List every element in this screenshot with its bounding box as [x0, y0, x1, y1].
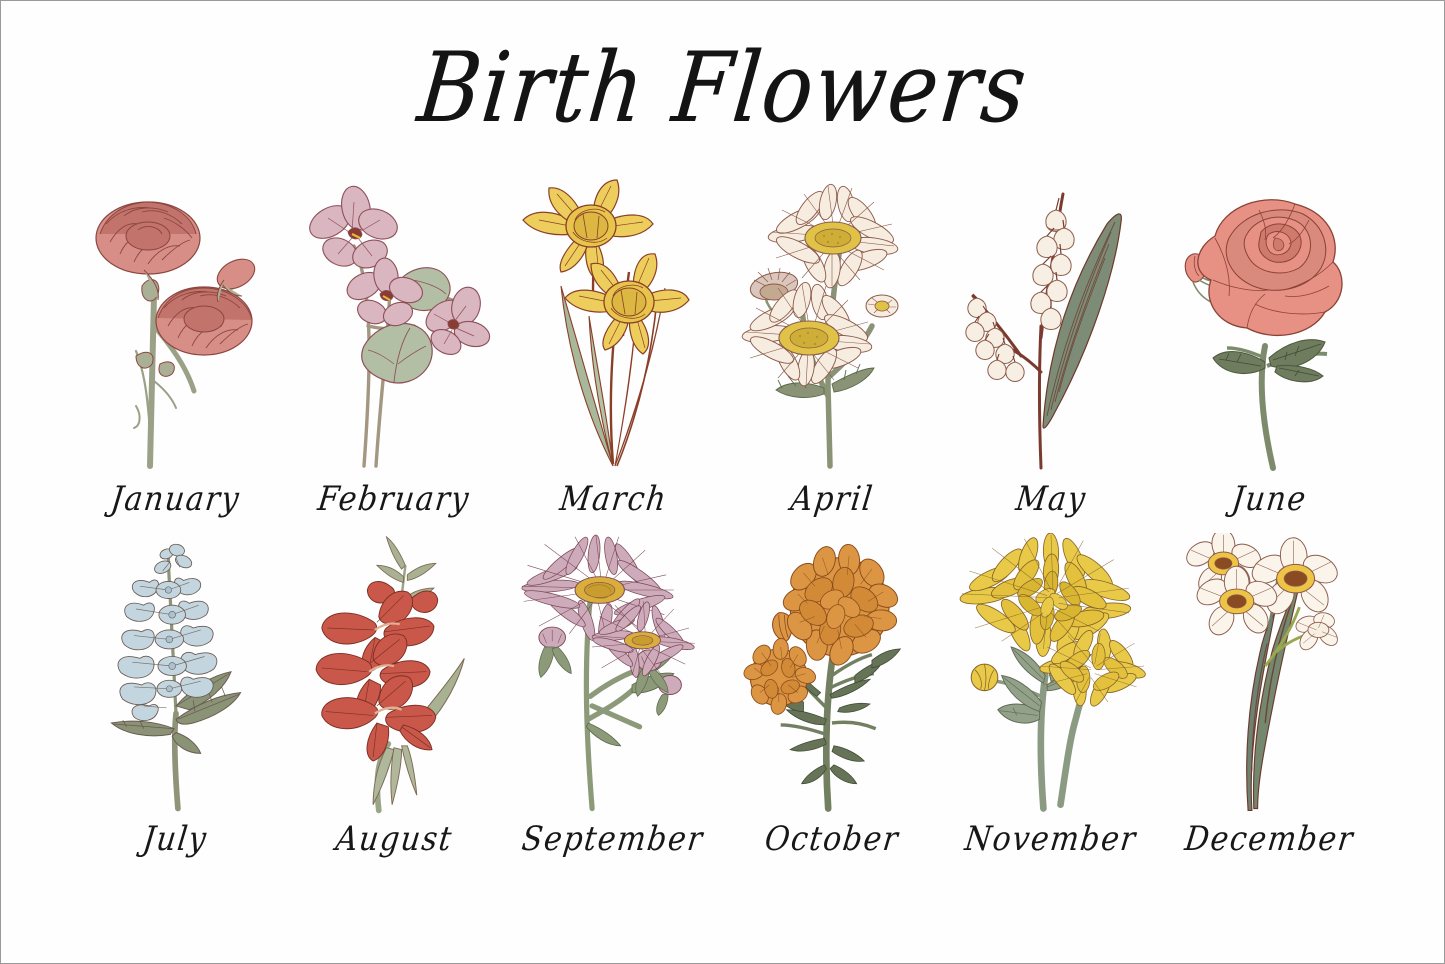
month-label-september: September	[520, 820, 706, 859]
rose-bloom	[1198, 200, 1342, 336]
narcissus-icon	[1169, 533, 1369, 818]
flower-cell-december[interactable]: December	[1166, 533, 1372, 857]
daffodil-bloom-1	[523, 180, 653, 280]
flower-cell-september[interactable]: September	[510, 533, 716, 857]
flower-grid: January	[73, 176, 1373, 857]
daisy-bud-small	[866, 295, 898, 317]
month-label-april: April	[788, 480, 875, 519]
flower-cell-october[interactable]: October	[729, 533, 935, 857]
violet-bloom-2	[343, 257, 427, 330]
daisy-icon	[732, 176, 932, 476]
month-label-june: June	[1230, 480, 1310, 519]
violet-icon	[294, 176, 494, 476]
flower-cell-july[interactable]: July	[73, 533, 279, 857]
carnation-icon	[76, 176, 276, 476]
month-label-october: October	[762, 820, 901, 859]
birth-flowers-poster: Birth Flowers	[0, 0, 1445, 964]
aster-icon	[513, 533, 713, 818]
month-label-may: May	[1013, 480, 1088, 519]
carnation-bloom-lower	[156, 287, 252, 355]
flower-cell-november[interactable]: November	[948, 533, 1154, 857]
month-label-november: November	[962, 820, 1138, 859]
daffodil-icon	[513, 176, 713, 476]
flower-cell-may[interactable]: May	[948, 176, 1154, 517]
flower-row: July	[73, 533, 1373, 857]
page-title: Birth Flowers	[413, 32, 1033, 144]
flower-row: January	[73, 176, 1373, 517]
marigold-icon	[732, 533, 932, 818]
larkspur-flower-spike	[117, 543, 216, 721]
narcissus-bloom-small	[1294, 611, 1341, 653]
flower-cell-june[interactable]: June	[1166, 176, 1372, 517]
chrysanthemum-icon	[951, 533, 1151, 818]
chrysanthemum-bud	[971, 664, 998, 691]
month-label-march: March	[557, 480, 669, 519]
daffodil-bloom-2	[565, 254, 689, 354]
flower-cell-april[interactable]: April	[729, 176, 935, 517]
flower-cell-february[interactable]: February	[291, 176, 497, 517]
aster-bloom-large	[522, 534, 675, 642]
carnation-bud	[212, 253, 260, 302]
lily-of-the-valley-icon	[951, 176, 1151, 476]
title-area: Birth Flowers	[1, 1, 1444, 176]
lily-bells-left	[966, 298, 1024, 382]
month-label-july: July	[141, 820, 210, 859]
flower-cell-march[interactable]: March	[510, 176, 716, 517]
month-label-december: December	[1183, 820, 1357, 859]
larkspur-icon	[76, 533, 276, 818]
month-label-january: January	[109, 480, 243, 519]
flower-cell-january[interactable]: January	[73, 176, 279, 517]
flower-cell-august[interactable]: August	[291, 533, 497, 857]
month-label-february: February	[316, 480, 473, 519]
month-label-august: August	[334, 820, 455, 859]
gladiolus-florets	[316, 591, 436, 761]
rose-icon	[1169, 176, 1369, 476]
gladiolus-icon	[294, 533, 494, 818]
